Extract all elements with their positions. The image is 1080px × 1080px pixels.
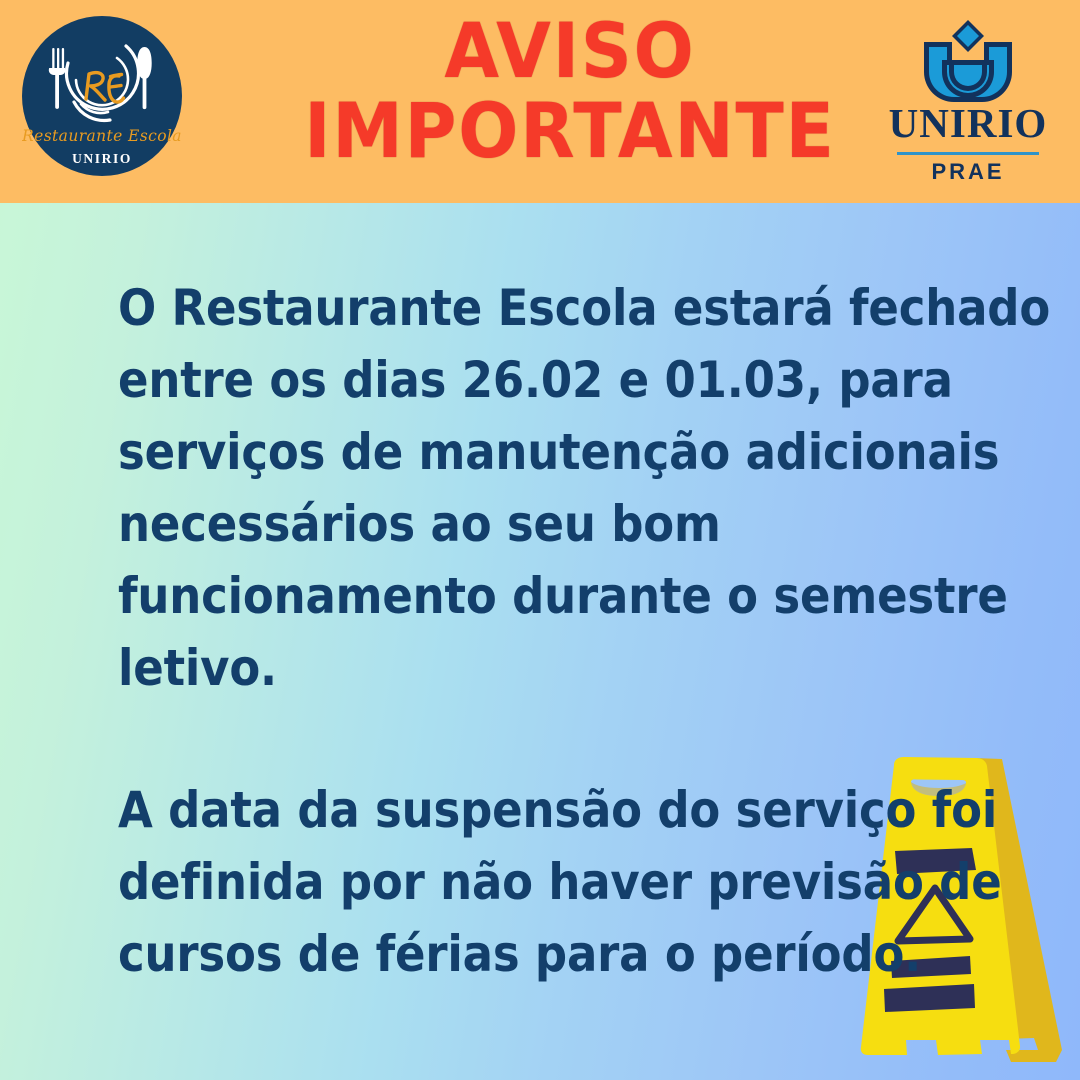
paragraph-2: A data da suspensão do serviço foi defin… xyxy=(118,774,918,990)
unirio-prae-logo: UNIRIO PRAE xyxy=(880,14,1056,183)
body-line: definida por não haver previsão de xyxy=(118,846,838,918)
logo-institution-text: UNIRIO xyxy=(72,151,132,166)
restaurante-escola-logo: Restaurante Escola UNIRIO xyxy=(22,16,182,176)
unirio-u-mark-icon xyxy=(880,14,1056,102)
prae-label: PRAE xyxy=(880,161,1056,183)
body-line: entre os dias 26.02 e 01.03, para xyxy=(118,344,838,416)
body-line: A data da suspensão do serviço foi xyxy=(118,774,838,846)
paragraph-1: O Restaurante Escola estará fechado entr… xyxy=(118,272,918,704)
title-line-1: AVISO xyxy=(263,14,877,88)
title-line-2: IMPORTANTE xyxy=(263,94,877,168)
body-line: letivo. xyxy=(118,632,838,704)
logo-name-text: Restaurante Escola xyxy=(22,127,182,145)
body-line: funcionamento durante o semestre xyxy=(118,560,838,632)
body-line: necessários ao seu bom xyxy=(118,488,838,560)
poster-canvas: Restaurante Escola UNIRIO AVISO IMPORTAN… xyxy=(0,0,1080,1080)
fork-icon xyxy=(49,48,66,109)
unirio-divider xyxy=(897,152,1039,155)
body-line: serviços de manutenção adicionais xyxy=(118,416,838,488)
re-monogram xyxy=(86,73,124,102)
body-line: O Restaurante Escola estará fechado xyxy=(118,272,838,344)
body-line: cursos de férias para o período. xyxy=(118,918,838,990)
announcement-body: O Restaurante Escola estará fechado entr… xyxy=(118,272,918,990)
poster-title: AVISO IMPORTANTE xyxy=(240,14,900,169)
unirio-wordmark: UNIRIO xyxy=(880,103,1056,144)
